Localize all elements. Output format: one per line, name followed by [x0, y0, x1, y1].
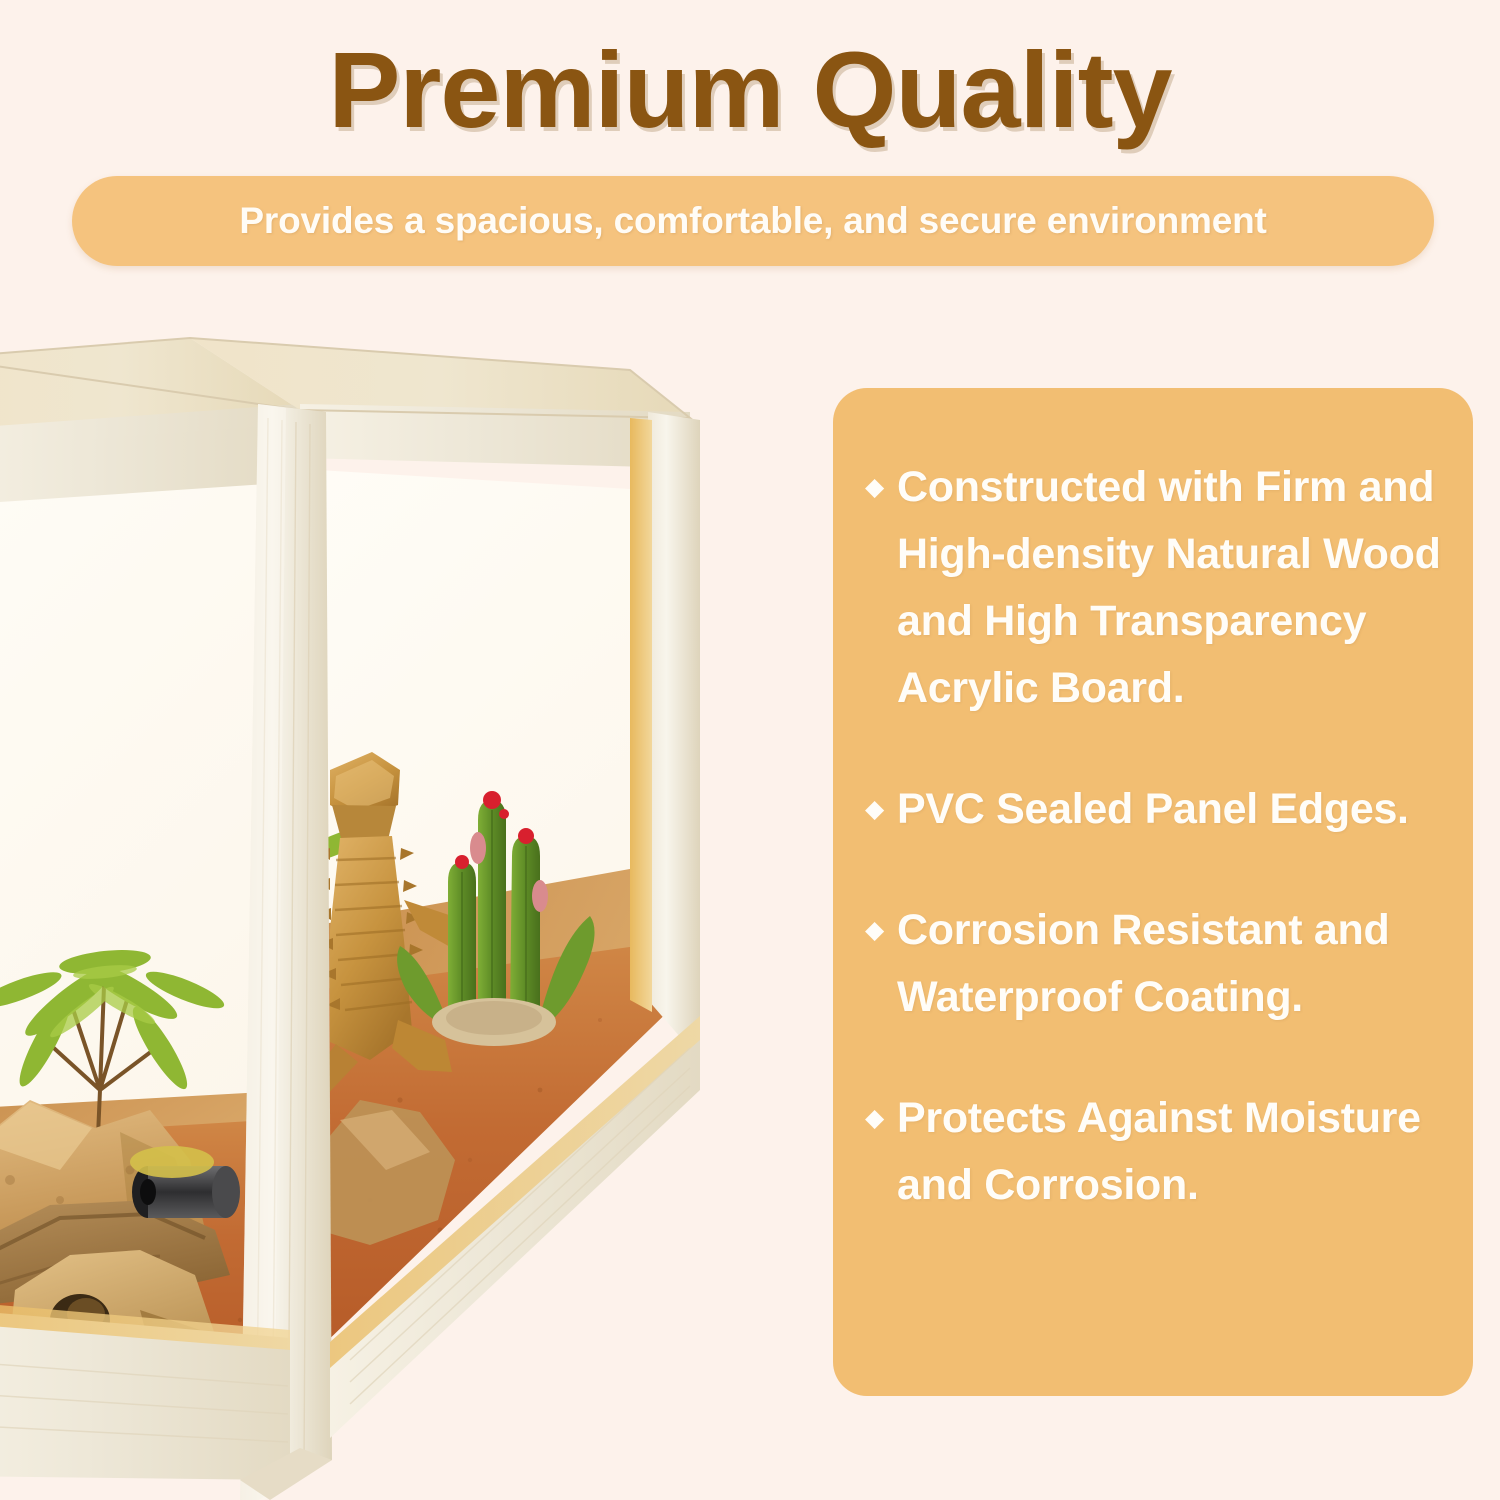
- feature-item-text: Constructed with Firm and High-density N…: [897, 454, 1443, 722]
- feature-panel: ◆ Constructed with Firm and High-density…: [833, 388, 1473, 1396]
- feature-item-corrosion-resistant: ◆ Corrosion Resistant and Waterproof Coa…: [863, 897, 1443, 1031]
- page-title: Premium Quality: [0, 26, 1500, 153]
- moss-patch: [130, 1146, 214, 1178]
- feature-item-pvc-edges: ◆ PVC Sealed Panel Edges.: [863, 776, 1443, 843]
- diamond-bullet-icon: ◆: [863, 1085, 897, 1152]
- diamond-bullet-icon: ◆: [863, 454, 897, 521]
- feature-item-construction: ◆ Constructed with Firm and High-density…: [863, 454, 1443, 722]
- product-photo: [0, 300, 790, 1500]
- diamond-bullet-icon: ◆: [863, 897, 897, 964]
- header: Premium Quality Provides a spacious, com…: [0, 0, 1500, 300]
- subtitle-banner: Provides a spacious, comfortable, and se…: [72, 176, 1434, 266]
- terrarium-illustration: [0, 300, 790, 1500]
- diamond-bullet-icon: ◆: [863, 776, 897, 843]
- feature-item-text: PVC Sealed Panel Edges.: [897, 776, 1443, 843]
- feature-item-text: Protects Against Moisture and Corrosion.: [897, 1085, 1443, 1219]
- feature-item-text: Corrosion Resistant and Waterproof Coati…: [897, 897, 1443, 1031]
- feature-item-moisture-protection: ◆ Protects Against Moisture and Corrosio…: [863, 1085, 1443, 1219]
- feature-bullet-list: ◆ Constructed with Firm and High-density…: [863, 454, 1443, 1219]
- subtitle-text: Provides a spacious, comfortable, and se…: [239, 200, 1266, 242]
